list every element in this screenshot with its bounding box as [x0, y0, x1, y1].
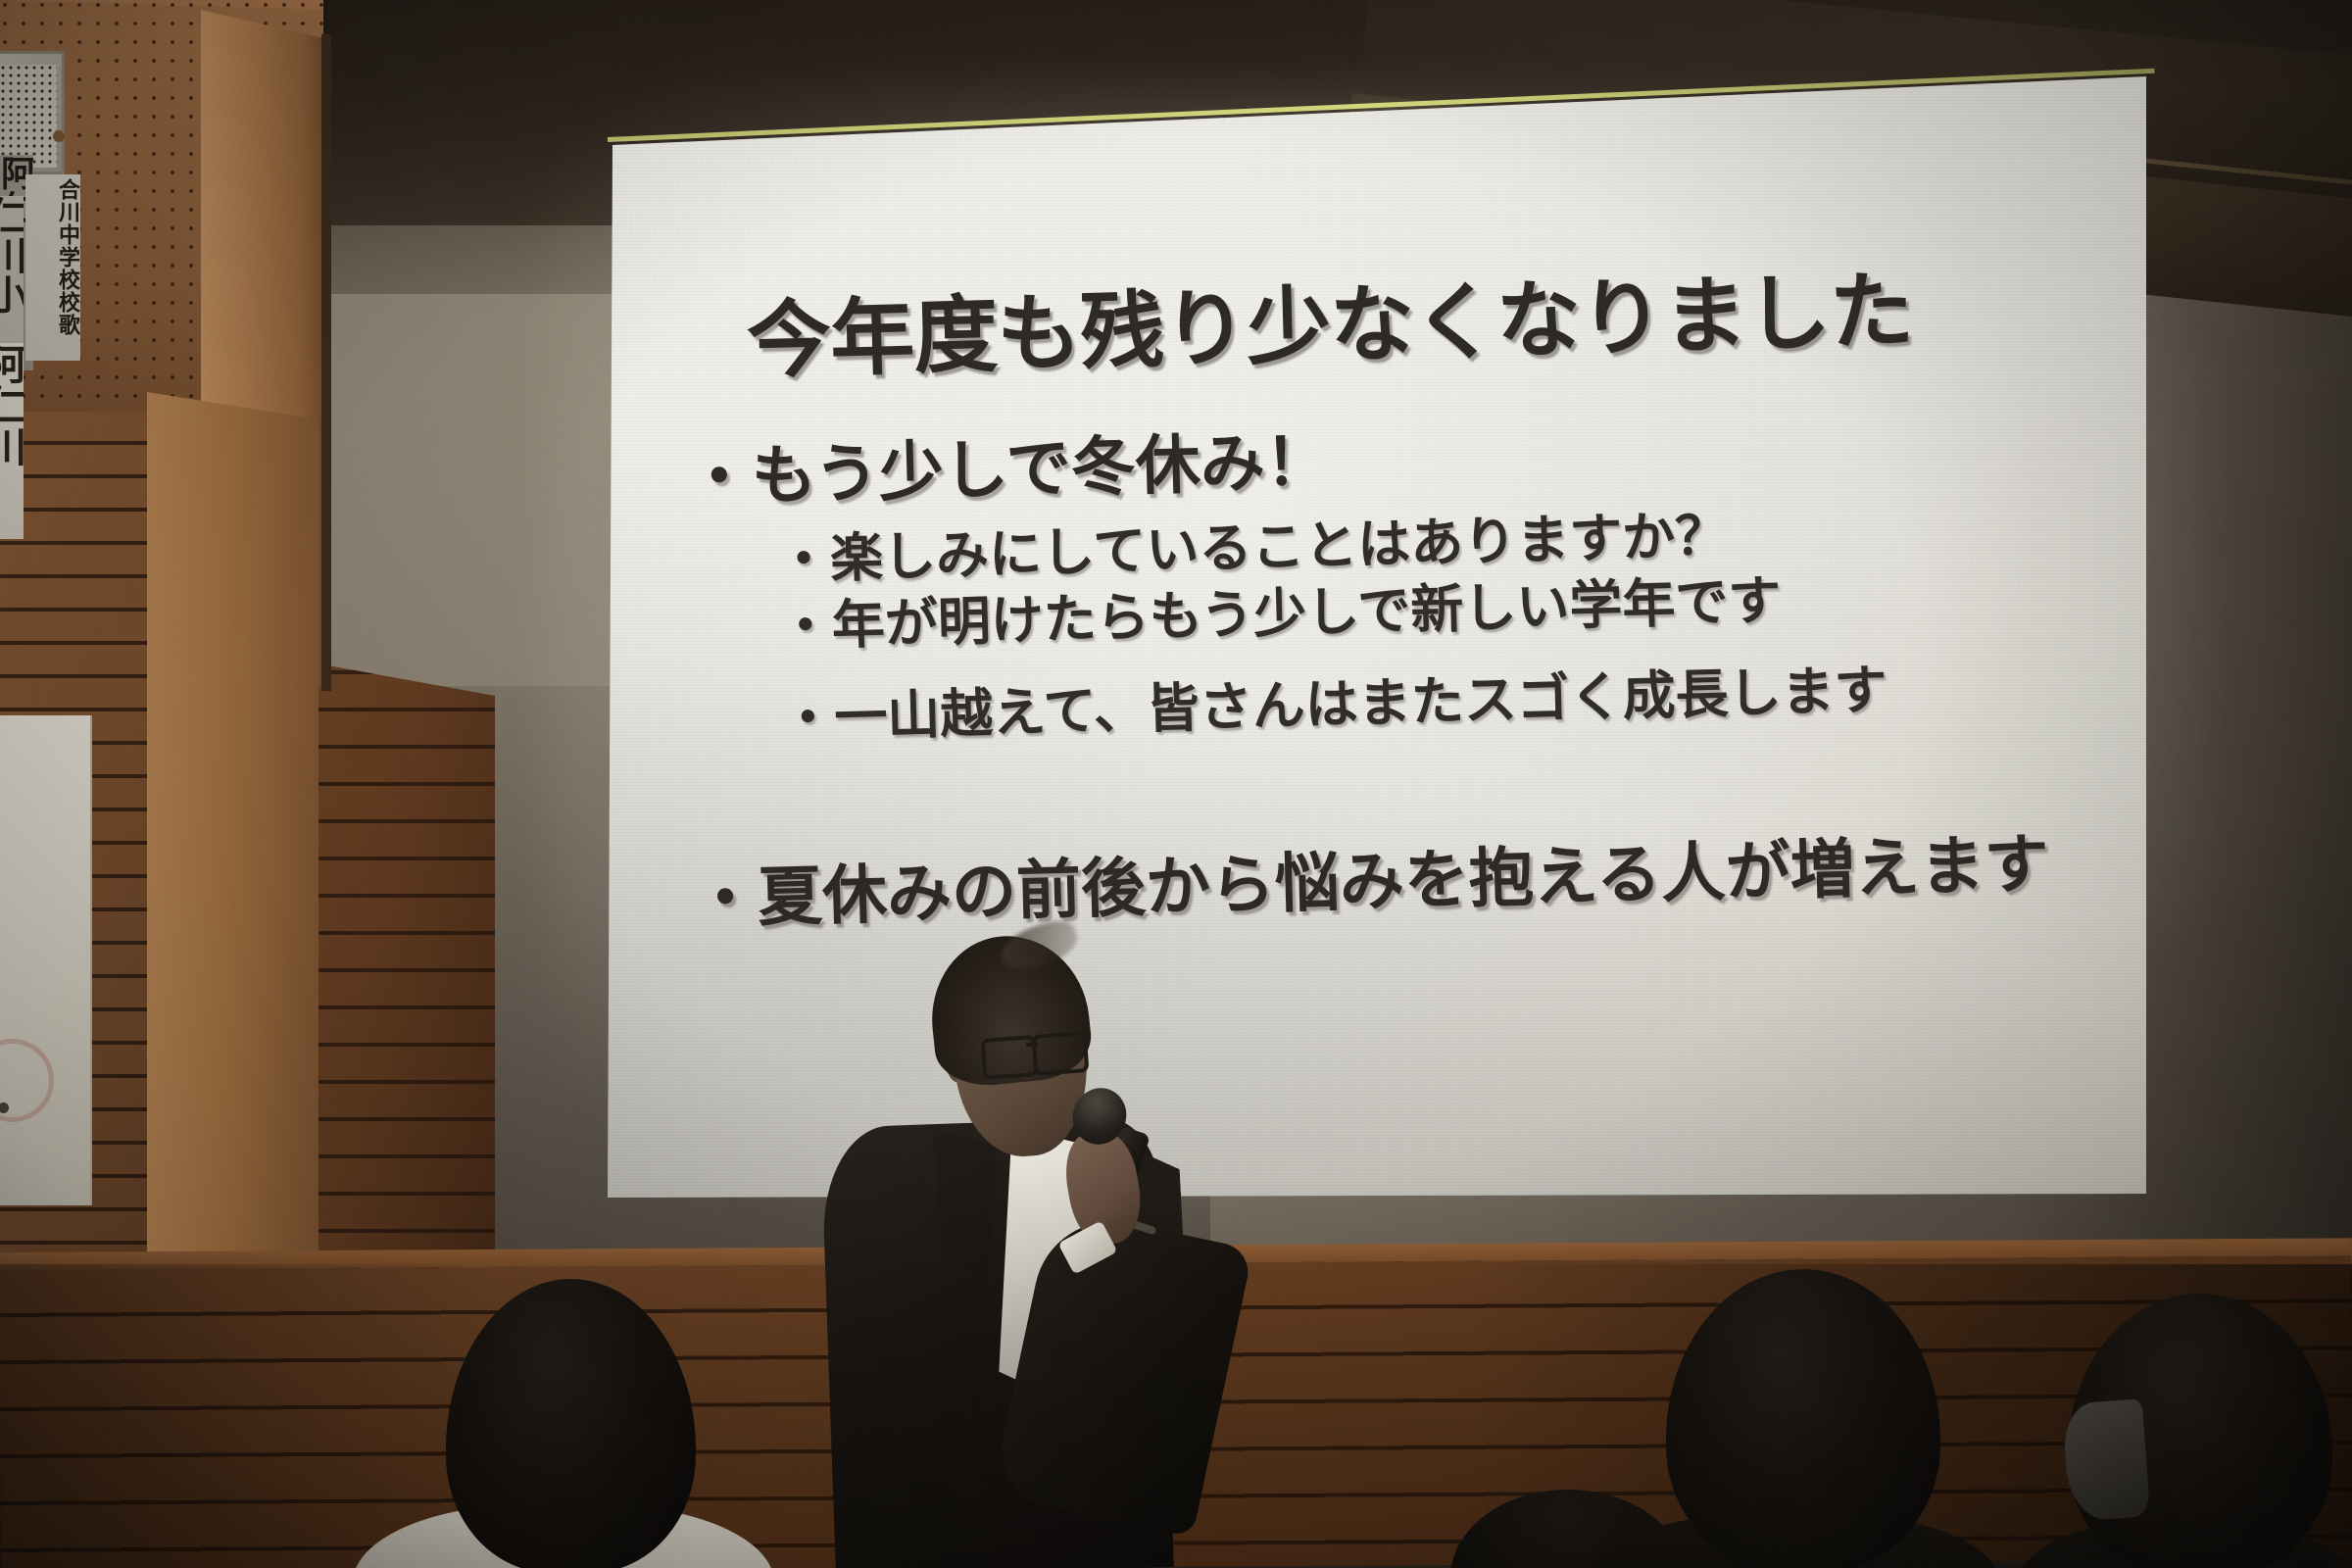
glasses-lens-left-icon [981, 1035, 1039, 1080]
wall-banner-c: 阿仁川 [0, 343, 24, 539]
slide-title: 今年度も残り少なくなりました [745, 242, 1914, 395]
presentation-photo-scene: 阿仁 仁川小 阿仁川 合川中学校校歌 今年度も残り少なくなりました ・もう少しで… [0, 0, 2352, 1568]
wood-column-edge [321, 34, 331, 691]
school-song-banner: 合川中学校校歌 [25, 174, 80, 361]
slide-bullet-4: ・一山越えて、皆さんはまたスゴく成長します [780, 646, 1887, 753]
wall-poster [0, 715, 92, 1205]
slide-bullet-5: ・夏休みの前後から悩みを抱える人が増えます [692, 811, 2050, 941]
slide-content: 今年度も残り少なくなりました ・もう少しで冬休み！ ・楽しみにしていることはあり… [673, 89, 2150, 1155]
glasses-bridge-icon [1026, 1043, 1038, 1048]
speaker-mount-knob-icon [53, 130, 65, 142]
wood-column-lower [147, 392, 318, 1274]
glasses-lens-right-icon [1032, 1031, 1090, 1076]
slide-bullet-1: ・もう少しで冬休み！ [685, 409, 1330, 519]
speaker-grille-icon [0, 65, 57, 168]
